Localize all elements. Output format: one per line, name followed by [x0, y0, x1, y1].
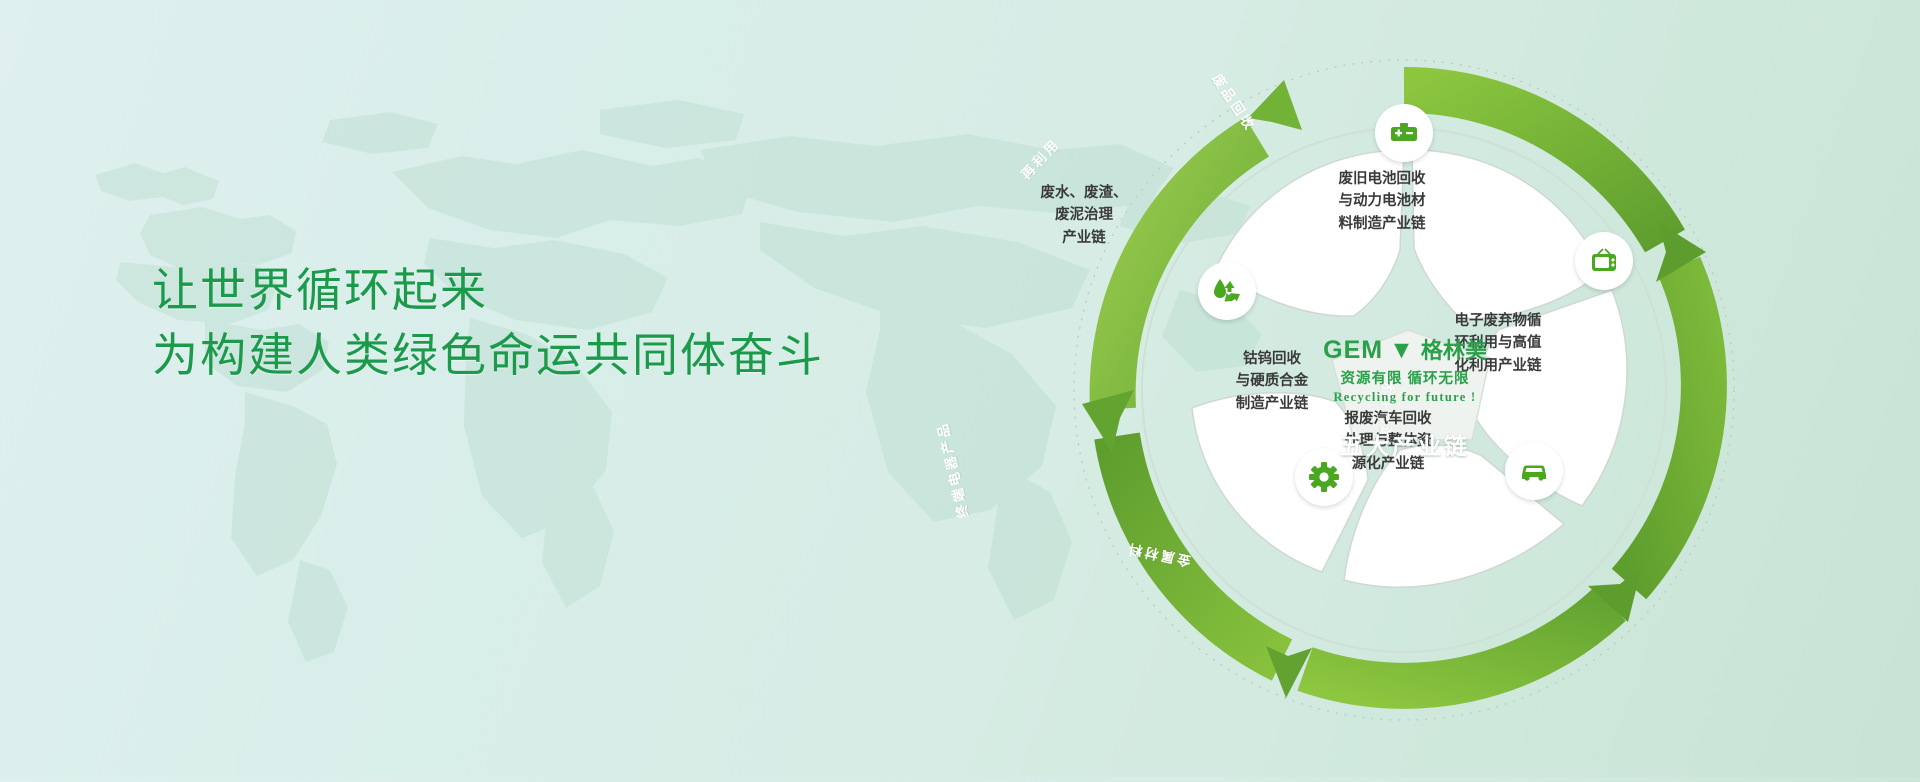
segment-line: 废泥治理 — [974, 204, 1194, 226]
recycling-cycle-diagram: 再利用 废品回收 材料制造 金属材料 终端电器产品 废水、废渣、 废泥治理 产业… — [1020, 0, 1820, 777]
icon-bubble-battery[interactable] — [1375, 104, 1433, 162]
icon-bubble-television[interactable] — [1575, 232, 1633, 290]
brand-latin: GEM — [1323, 338, 1383, 363]
car-icon — [1518, 455, 1550, 487]
segment-line: 废水、废渣、 — [974, 182, 1194, 204]
segment-line: 与动力电池材 — [1282, 190, 1482, 212]
battery-icon — [1389, 118, 1419, 148]
brand-latin-text: GEM — [1323, 336, 1383, 364]
slogan-cn: 资源有限 循环无限 — [1300, 367, 1510, 388]
segment-line: 废旧电池回收 — [1282, 168, 1482, 190]
segment-text-wastewater: 废水、废渣、 废泥治理 产业链 — [974, 182, 1194, 249]
segment-line: 料制造产业链 — [1282, 213, 1482, 235]
headline-line-1: 让世界循环起来 — [152, 258, 824, 323]
brand-row: GEM ▼ 格林美 — [1300, 338, 1510, 363]
icon-bubble-water-recycle[interactable] — [1198, 262, 1256, 320]
headline-block: 让世界循环起来 为构建人类绿色命运共同体奋斗 — [152, 258, 824, 389]
brand-triangle-mark: ▼ — [1389, 338, 1415, 363]
segment-line: 产业链 — [974, 227, 1194, 249]
headline-line-2: 为构建人类绿色命运共同体奋斗 — [152, 323, 824, 388]
slogan-en: Recycling for future ! — [1300, 390, 1510, 405]
segment-line: 电子废弃物循 — [1398, 310, 1598, 332]
center-logo-block: GEM ▼ 格林美 资源有限 循环无限 Recycling for future… — [1300, 338, 1510, 461]
center-subtitle: 五大产业链 — [1300, 427, 1510, 461]
segment-text-battery: 废旧电池回收 与动力电池材 料制造产业链 — [1282, 168, 1482, 235]
icon-bubble-car[interactable] — [1505, 442, 1563, 500]
brand-cn: 格林美 — [1421, 340, 1487, 362]
television-icon — [1589, 246, 1619, 276]
gear-icon — [1308, 461, 1340, 493]
water-recycle-icon — [1210, 275, 1244, 307]
